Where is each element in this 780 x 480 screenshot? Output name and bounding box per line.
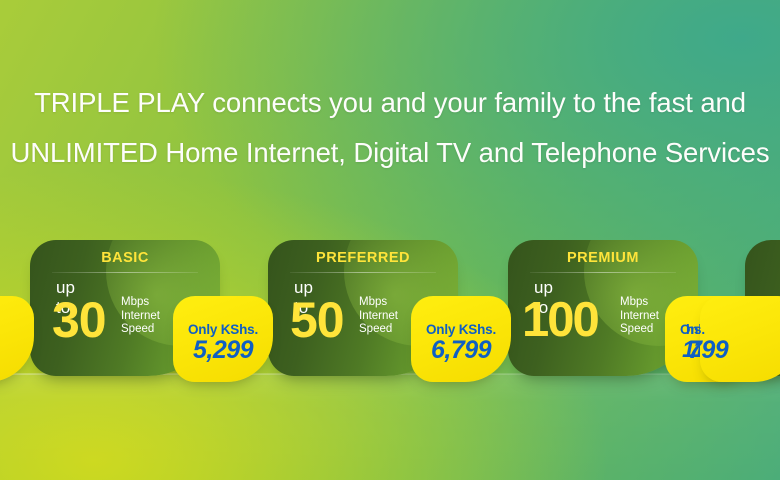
- plan-unit-internet: Internet: [121, 310, 160, 324]
- price-bubble[interactable]: Only KShs. 6,799: [411, 296, 511, 382]
- plan-unit-speed: Speed: [121, 323, 160, 337]
- headline-line-2: UNLIMITED Home Internet, Digital TV and …: [0, 128, 780, 178]
- plan-unit-mbps: Mbps: [359, 296, 398, 310]
- price-label: hs.: [686, 322, 780, 337]
- price-value: 6,799: [411, 336, 511, 365]
- plan-speed-value: 50: [290, 294, 344, 346]
- price-label: Only KShs.: [173, 322, 273, 337]
- plan-tier-label: PREMIUM: [508, 250, 698, 266]
- plan-unit-speed: Speed: [620, 323, 659, 337]
- price-bubble-partial-left[interactable]: 9: [0, 296, 34, 382]
- plan-speed-value: 100: [522, 294, 598, 346]
- plan-speed-units: Mbps Internet Speed: [620, 296, 659, 337]
- plan-unit-internet: Internet: [620, 310, 659, 324]
- plan-unit-mbps: Mbps: [121, 296, 160, 310]
- plan-speed-units: Mbps Internet Speed: [359, 296, 398, 337]
- plan-speed-units: Mbps Internet Speed: [121, 296, 160, 337]
- plan-divider: [290, 272, 436, 273]
- headline: TRIPLE PLAY connects you and your family…: [0, 78, 780, 178]
- plan-unit-mbps: Mbps: [620, 296, 659, 310]
- promotional-banner: TRIPLE PLAY connects you and your family…: [0, 0, 780, 480]
- price-bubble[interactable]: Only KShs. 5,299: [173, 296, 273, 382]
- price-value: 799: [688, 336, 780, 365]
- plan-unit-speed: Speed: [359, 323, 398, 337]
- plan-divider: [52, 272, 198, 273]
- price-value: 9: [0, 336, 34, 365]
- plan-tier-label: PREFERRED: [268, 250, 458, 266]
- floor-shading: [0, 374, 780, 480]
- price-value: 5,299: [173, 336, 273, 365]
- plan-divider: [530, 272, 676, 273]
- plan-unit-internet: Internet: [359, 310, 398, 324]
- price-label: Only KShs.: [411, 322, 511, 337]
- plan-speed-value: 30: [52, 294, 106, 346]
- headline-line-1: TRIPLE PLAY connects you and your family…: [34, 87, 746, 118]
- price-bubble-partial-right[interactable]: hs. 799: [700, 296, 780, 382]
- plan-tier-label: BASIC: [30, 250, 220, 266]
